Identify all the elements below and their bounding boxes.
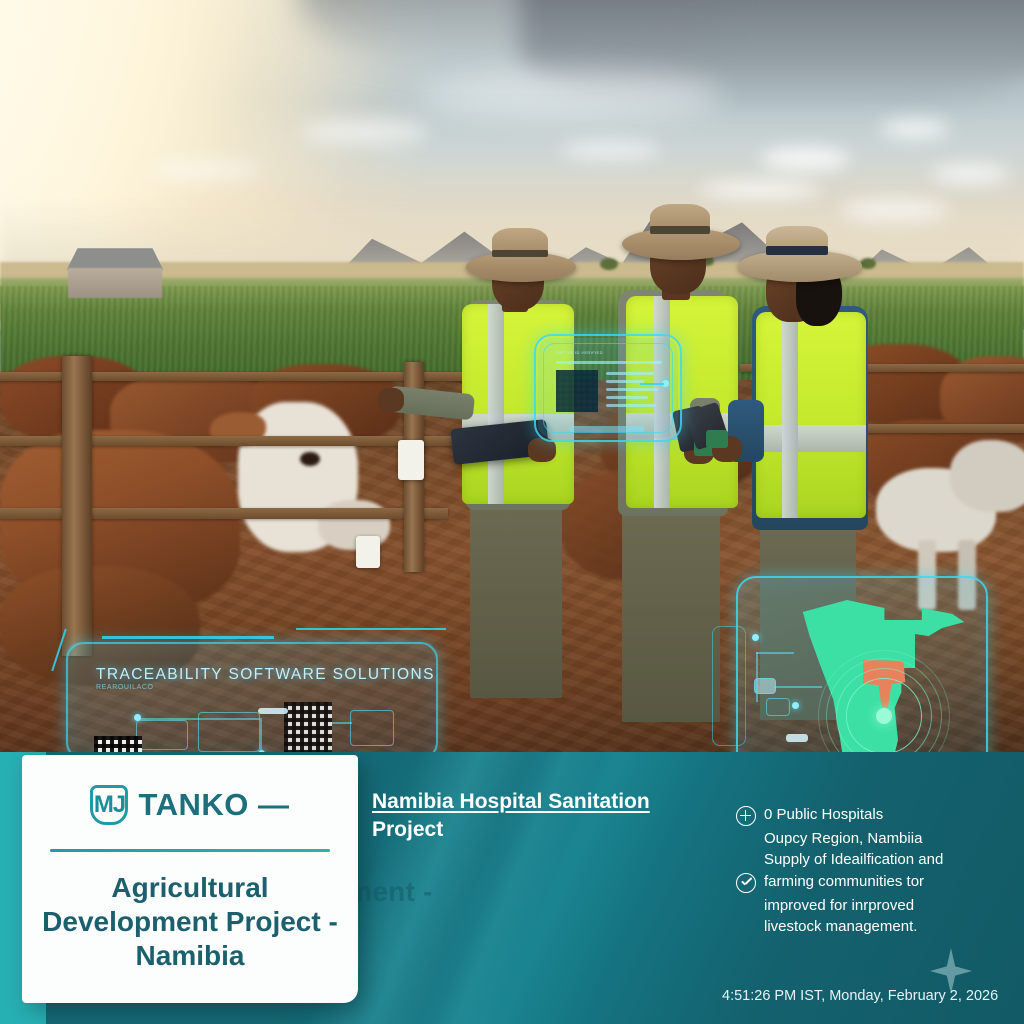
holo-text-line bbox=[606, 388, 658, 391]
holographic-data-panel: CATTLE ID VERIFIED bbox=[534, 334, 682, 442]
map-side-frame bbox=[712, 626, 746, 746]
project-facts-panel: 0 Public Hospitals Oupcy Region, Nambiia… bbox=[736, 804, 984, 960]
fact-text-livestock: livestock management. bbox=[736, 916, 984, 937]
project-title: Agricultural Development Project -Namibi… bbox=[40, 871, 340, 973]
cow-eye bbox=[300, 452, 320, 466]
mj-shield-logo-icon: MJ bbox=[90, 785, 128, 825]
holo-label: CATTLE ID VERIFIED bbox=[556, 350, 603, 355]
cattle-ear-tag bbox=[356, 536, 380, 568]
map-circuit-line bbox=[756, 652, 794, 654]
fact-text-supply: Supply of Ideailfication and bbox=[736, 849, 984, 870]
cloud bbox=[880, 120, 950, 138]
timestamp-label: 4:51:26 PM IST, Monday, February 2, 2026 bbox=[722, 988, 998, 1004]
hero-photograph: CATTLE ID VERIFIED TRACEABILITY SOFTWARE… bbox=[0, 0, 1024, 760]
holo-connector bbox=[640, 383, 664, 385]
worker-hand bbox=[378, 388, 404, 412]
cloud bbox=[300, 120, 430, 144]
map-pill bbox=[786, 734, 808, 742]
cloud-bank bbox=[420, 70, 720, 120]
map-circuit-line bbox=[756, 652, 758, 702]
holo-text-line bbox=[606, 372, 654, 375]
vest-stripe bbox=[782, 312, 798, 518]
namibia-map-hud-panel bbox=[730, 574, 994, 760]
hud-accent-line bbox=[296, 628, 446, 630]
hat-band bbox=[650, 226, 710, 234]
fact-text-hospitals: 0 Public Hospitals bbox=[764, 804, 883, 825]
map-circuit-box bbox=[766, 698, 790, 716]
goat bbox=[950, 440, 1024, 512]
radar-center-dot bbox=[876, 708, 892, 724]
holo-text-line bbox=[606, 396, 648, 399]
hud-accent-line bbox=[102, 636, 274, 639]
worker-legs bbox=[622, 508, 720, 722]
map-circuit-line bbox=[774, 686, 822, 688]
holo-text-line bbox=[606, 380, 644, 383]
fact-text-communities: farming communities tor bbox=[764, 871, 924, 892]
map-node bbox=[752, 634, 759, 641]
poster-root: CATTLE ID VERIFIED TRACEABILITY SOFTWARE… bbox=[0, 0, 1024, 1024]
hud-circuit-line bbox=[136, 718, 260, 720]
brand-card: MJ TANKO — Agricultural Development Proj… bbox=[22, 755, 358, 1003]
holo-text-line bbox=[606, 404, 656, 407]
hud-circuit-box bbox=[350, 710, 394, 746]
vest-stripe bbox=[488, 304, 504, 504]
qr-code bbox=[284, 702, 332, 754]
hud-pill bbox=[258, 708, 288, 714]
check-circle-icon bbox=[736, 873, 756, 893]
headline-block: Namibia Hospital Sanitation Project bbox=[372, 788, 702, 844]
hud-title: TRACEABILITY SOFTWARE SOLUTIONS bbox=[96, 666, 435, 684]
headline-line-2: Project bbox=[372, 818, 443, 841]
hud-circuit-line bbox=[260, 718, 262, 752]
fact-text-improved: improved for inrproved bbox=[736, 895, 984, 916]
hud-circuit-box bbox=[136, 720, 188, 750]
traceability-hud-panel: TRACEABILITY SOFTWARE SOLUTIONS REAROUIL… bbox=[58, 626, 458, 760]
tree bbox=[860, 258, 876, 269]
holo-text-line bbox=[556, 361, 662, 364]
tree bbox=[600, 258, 618, 270]
hat-band bbox=[766, 246, 828, 255]
headline-line-1: Namibia Hospital Sanitation bbox=[372, 790, 650, 813]
cattle-ear-tag bbox=[398, 440, 424, 480]
hospital-plus-icon bbox=[736, 806, 756, 826]
fact-text-region: Oupcy Region, Nambiia bbox=[736, 828, 984, 849]
farm-shed-body bbox=[68, 268, 162, 298]
qr-code bbox=[556, 370, 598, 412]
logo-wordmark: TANKO — bbox=[138, 787, 289, 823]
hat-band bbox=[492, 250, 548, 257]
fact-row-hospitals: 0 Public Hospitals bbox=[736, 804, 984, 826]
hi-vis-vest bbox=[756, 312, 866, 518]
map-node bbox=[792, 702, 799, 709]
scanner-grip bbox=[706, 430, 728, 448]
card-divider bbox=[50, 849, 330, 852]
hud-circuit-line bbox=[332, 722, 352, 724]
hud-subtitle: REAROUILACO bbox=[96, 684, 154, 691]
fact-row-communities: farming communities tor bbox=[736, 871, 984, 893]
fence-post bbox=[62, 356, 92, 656]
logo-lockup: MJ TANKO — bbox=[22, 779, 358, 831]
worker-legs bbox=[470, 498, 562, 698]
holo-progress-bar bbox=[570, 426, 644, 432]
logo-mark-text: MJ bbox=[90, 785, 128, 825]
farm-shed-roof bbox=[60, 248, 170, 270]
hud-node bbox=[134, 714, 141, 721]
